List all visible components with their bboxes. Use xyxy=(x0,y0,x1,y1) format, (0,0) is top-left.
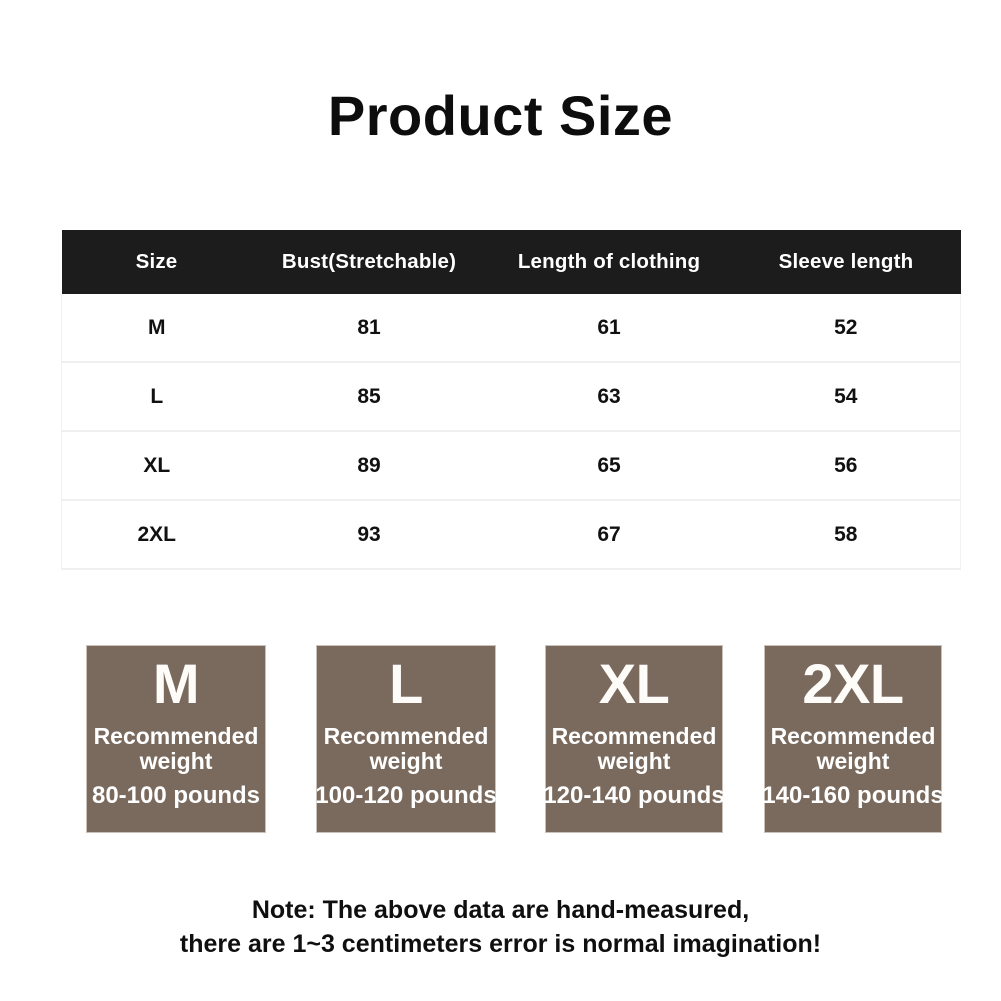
box-weight-range: 80-100 pounds xyxy=(75,782,277,810)
recommended-weight-box-l: L Recommended weight 100-120 pounds xyxy=(316,645,496,833)
box-label-line2: weight xyxy=(77,749,275,774)
cell-bust: 89 xyxy=(252,431,487,500)
column-header-sleeve: Sleeve length xyxy=(732,230,961,294)
cell-sleeve: 52 xyxy=(732,294,961,362)
box-recommended-weight-label: Recommended weight xyxy=(536,724,732,774)
table-row: L 85 63 54 xyxy=(62,362,961,431)
box-size-label: 2XL xyxy=(765,650,941,718)
cell-size: M xyxy=(62,294,252,362)
cell-length: 61 xyxy=(487,294,732,362)
cell-bust: 81 xyxy=(252,294,487,362)
note-line-2: there are 1~3 centimeters error is norma… xyxy=(0,927,1001,961)
table-body: M 81 61 52 L 85 63 54 XL 89 65 56 2XL 93… xyxy=(62,294,961,569)
recommended-weight-box-m: M Recommended weight 80-100 pounds xyxy=(86,645,266,833)
cell-sleeve: 54 xyxy=(732,362,961,431)
box-label-line2: weight xyxy=(307,749,505,774)
table-header-row: Size Bust(Stretchable) Length of clothin… xyxy=(62,230,961,294)
box-size-label: L xyxy=(317,650,495,718)
size-chart-page: Product Size Size Bust(Stretchable) Leng… xyxy=(0,0,1001,1001)
cell-length: 65 xyxy=(487,431,732,500)
cell-size: 2XL xyxy=(62,500,252,569)
cell-bust: 93 xyxy=(252,500,487,569)
table-row: XL 89 65 56 xyxy=(62,431,961,500)
box-label-line2: weight xyxy=(536,749,732,774)
box-weight-range: 140-160 pounds xyxy=(753,782,953,810)
box-size-label: M xyxy=(87,650,265,718)
page-title: Product Size xyxy=(0,88,1001,144)
cell-size: L xyxy=(62,362,252,431)
table-row: M 81 61 52 xyxy=(62,294,961,362)
cell-sleeve: 56 xyxy=(732,431,961,500)
cell-size: XL xyxy=(62,431,252,500)
measurement-note: Note: The above data are hand-measured, … xyxy=(0,893,1001,961)
box-label-line1: Recommended xyxy=(324,723,489,749)
table-row: 2XL 93 67 58 xyxy=(62,500,961,569)
recommended-weight-boxes: M Recommended weight 80-100 pounds L Rec… xyxy=(0,645,1001,835)
column-header-length: Length of clothing xyxy=(487,230,732,294)
box-label-line1: Recommended xyxy=(552,723,717,749)
box-weight-range: 120-140 pounds xyxy=(534,782,734,810)
box-label-line2: weight xyxy=(755,749,951,774)
cell-length: 67 xyxy=(487,500,732,569)
recommended-weight-box-2xl: 2XL Recommended weight 140-160 pounds xyxy=(764,645,942,833)
table-header: Size Bust(Stretchable) Length of clothin… xyxy=(62,230,961,294)
size-measurement-table: Size Bust(Stretchable) Length of clothin… xyxy=(61,230,961,570)
box-recommended-weight-label: Recommended weight xyxy=(77,724,275,774)
cell-length: 63 xyxy=(487,362,732,431)
recommended-weight-box-xl: XL Recommended weight 120-140 pounds xyxy=(545,645,723,833)
box-size-label: XL xyxy=(546,650,722,718)
box-weight-range: 100-120 pounds xyxy=(305,782,507,810)
box-label-line1: Recommended xyxy=(94,723,259,749)
note-line-1: Note: The above data are hand-measured, xyxy=(0,893,1001,927)
column-header-bust: Bust(Stretchable) xyxy=(252,230,487,294)
box-recommended-weight-label: Recommended weight xyxy=(755,724,951,774)
column-header-size: Size xyxy=(62,230,252,294)
box-recommended-weight-label: Recommended weight xyxy=(307,724,505,774)
box-label-line1: Recommended xyxy=(771,723,936,749)
cell-sleeve: 58 xyxy=(732,500,961,569)
cell-bust: 85 xyxy=(252,362,487,431)
